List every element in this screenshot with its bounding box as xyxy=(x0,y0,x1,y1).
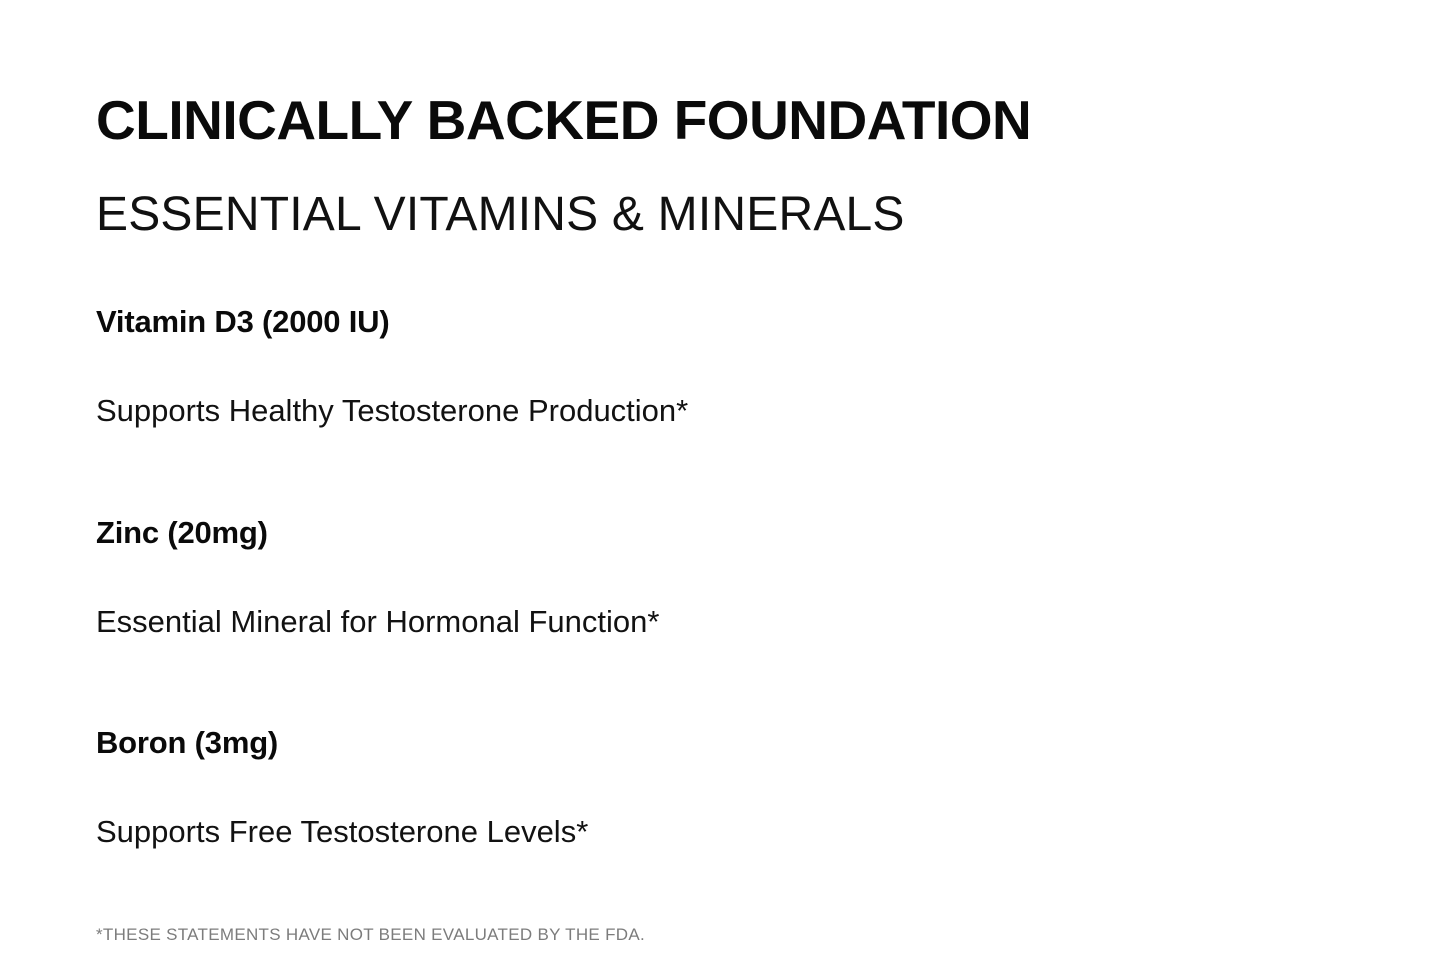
fda-disclaimer: *THESE STATEMENTS HAVE NOT BEEN EVALUATE… xyxy=(96,850,1386,946)
page-title: CLINICALLY BACKED FOUNDATION xyxy=(96,92,1386,150)
page-subtitle: ESSENTIAL VITAMINS & MINERALS xyxy=(96,150,1386,240)
ingredient-description: Supports Healthy Testosterone Production… xyxy=(96,340,1386,429)
ingredient-list: Vitamin D3 (2000 IU) Supports Healthy Te… xyxy=(96,240,1386,850)
supplement-facts-panel: CLINICALLY BACKED FOUNDATION ESSENTIAL V… xyxy=(0,0,1445,963)
list-item: Vitamin D3 (2000 IU) Supports Healthy Te… xyxy=(96,303,1386,429)
list-item: Zinc (20mg) Essential Mineral for Hormon… xyxy=(96,430,1386,640)
ingredient-name: Boron (3mg) xyxy=(96,724,1386,761)
content-container: CLINICALLY BACKED FOUNDATION ESSENTIAL V… xyxy=(96,92,1386,946)
ingredient-name: Vitamin D3 (2000 IU) xyxy=(96,303,1386,340)
list-item: Boron (3mg) Supports Free Testosterone L… xyxy=(96,640,1386,850)
ingredient-name: Zinc (20mg) xyxy=(96,514,1386,551)
ingredient-description: Essential Mineral for Hormonal Function* xyxy=(96,551,1386,640)
ingredient-description: Supports Free Testosterone Levels* xyxy=(96,761,1386,850)
